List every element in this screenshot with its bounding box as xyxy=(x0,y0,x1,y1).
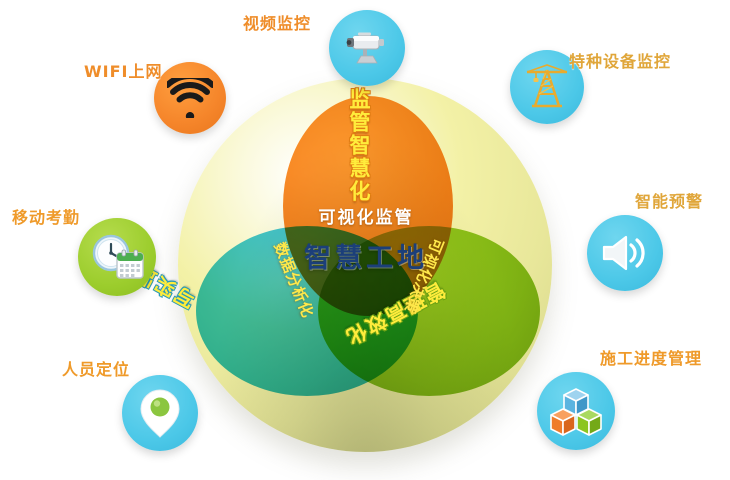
node-special-equipment-label: 特种设备监控 xyxy=(569,48,671,72)
node-wifi-disc[interactable] xyxy=(154,62,226,134)
node-progress-disc[interactable] xyxy=(537,372,615,450)
node-alert-label: 智能预警 xyxy=(635,188,703,212)
loudspeaker-icon xyxy=(600,230,650,276)
clock-calendar-icon xyxy=(89,231,145,283)
node-alert-disc[interactable] xyxy=(587,215,663,291)
node-video-disc[interactable] xyxy=(329,10,405,86)
cctv-camera-icon xyxy=(341,22,393,74)
stacked-blocks-icon xyxy=(549,385,603,437)
wifi-signal-icon xyxy=(167,78,213,118)
tower-crane-icon xyxy=(522,62,572,112)
node-locate-disc[interactable] xyxy=(122,375,198,451)
node-attendance-disc[interactable] xyxy=(78,218,156,296)
node-video-label: 视频监控 xyxy=(243,10,311,34)
infographic-canvas: 监管智慧化 写实监管化 管理高效化 可视化监管 数据分析化 可视化决策 智慧工地 xyxy=(0,0,730,480)
node-locate-label: 人员定位 xyxy=(62,356,130,380)
node-progress-label: 施工进度管理 xyxy=(600,345,702,369)
map-pin-icon xyxy=(138,387,182,439)
node-attendance-label: 移动考勤 xyxy=(12,204,80,228)
node-wifi-label: WIFI上网 xyxy=(84,58,163,82)
venn-circle-efficiency[interactable] xyxy=(318,226,540,396)
